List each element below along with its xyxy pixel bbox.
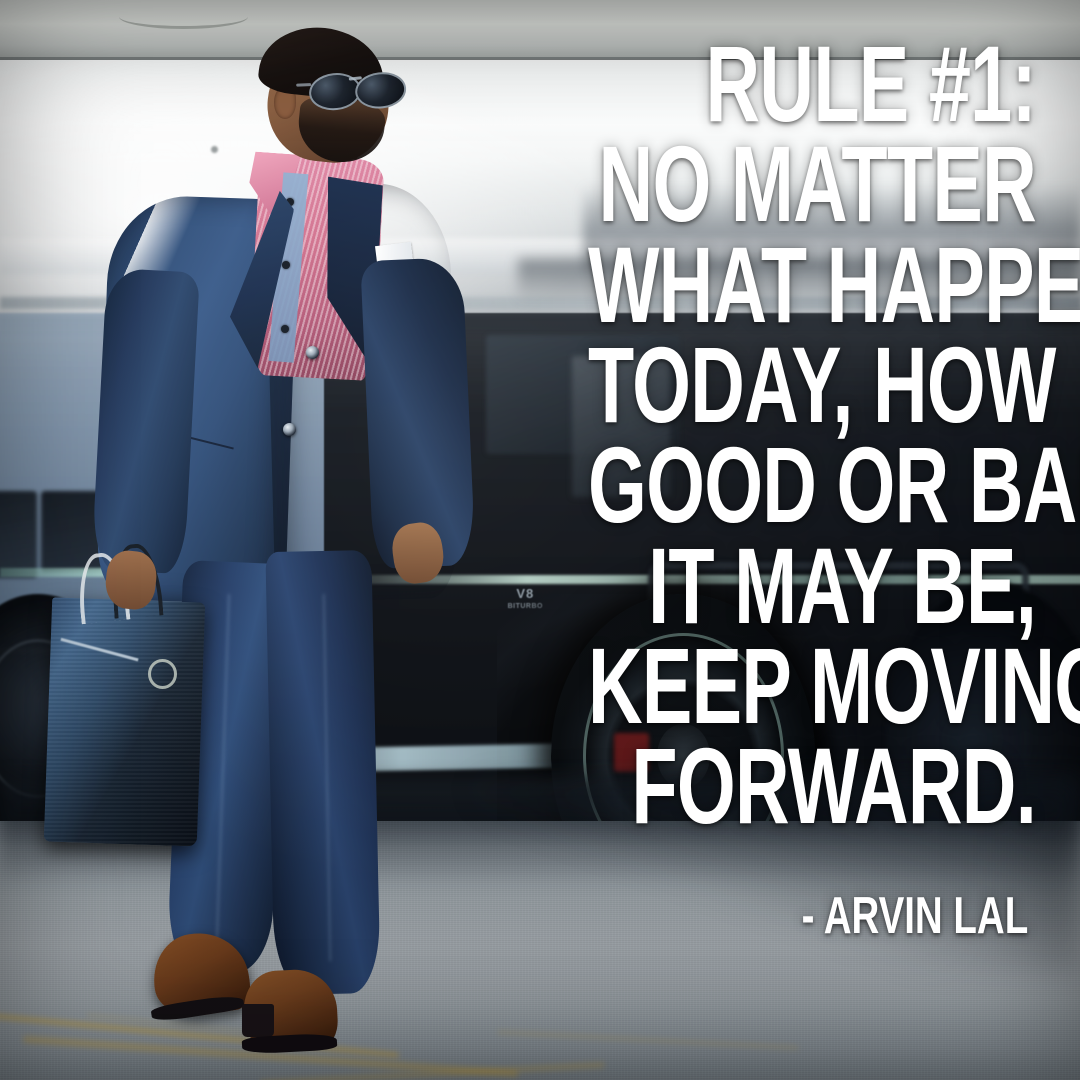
shirt-button bbox=[281, 325, 289, 333]
quote-line: IT MAY BE, bbox=[588, 540, 1036, 632]
quote-line: NO MATTER bbox=[588, 138, 1036, 230]
jacket-sleeve-left bbox=[92, 268, 201, 575]
quote-attribution: - ARVIN LAL bbox=[801, 890, 1028, 942]
jacket-button bbox=[306, 346, 319, 359]
quote-line: WHAT HAPPENS bbox=[588, 239, 1036, 331]
quote-text-block: RULE #1: NO MATTER WHAT HAPPENS TODAY, H… bbox=[396, 38, 1036, 841]
sunglasses-icon bbox=[307, 67, 403, 114]
briefcase-ring-clasp bbox=[148, 659, 177, 689]
quote-image-canvas: V8 BITURBO bbox=[0, 0, 1080, 1080]
sunglasses-temple-arm bbox=[296, 83, 311, 87]
quote-line: RULE #1: bbox=[588, 38, 1036, 130]
briefcase-texture bbox=[43, 598, 205, 847]
boot-heel-right bbox=[242, 1004, 274, 1036]
leather-briefcase bbox=[43, 598, 205, 847]
quote-line: GOOD OR BAD bbox=[588, 439, 1036, 531]
quote-line: TODAY, HOW bbox=[588, 339, 1036, 431]
quote-line: FORWARD. bbox=[588, 740, 1036, 832]
quote-line: KEEP MOVING bbox=[588, 640, 1036, 732]
